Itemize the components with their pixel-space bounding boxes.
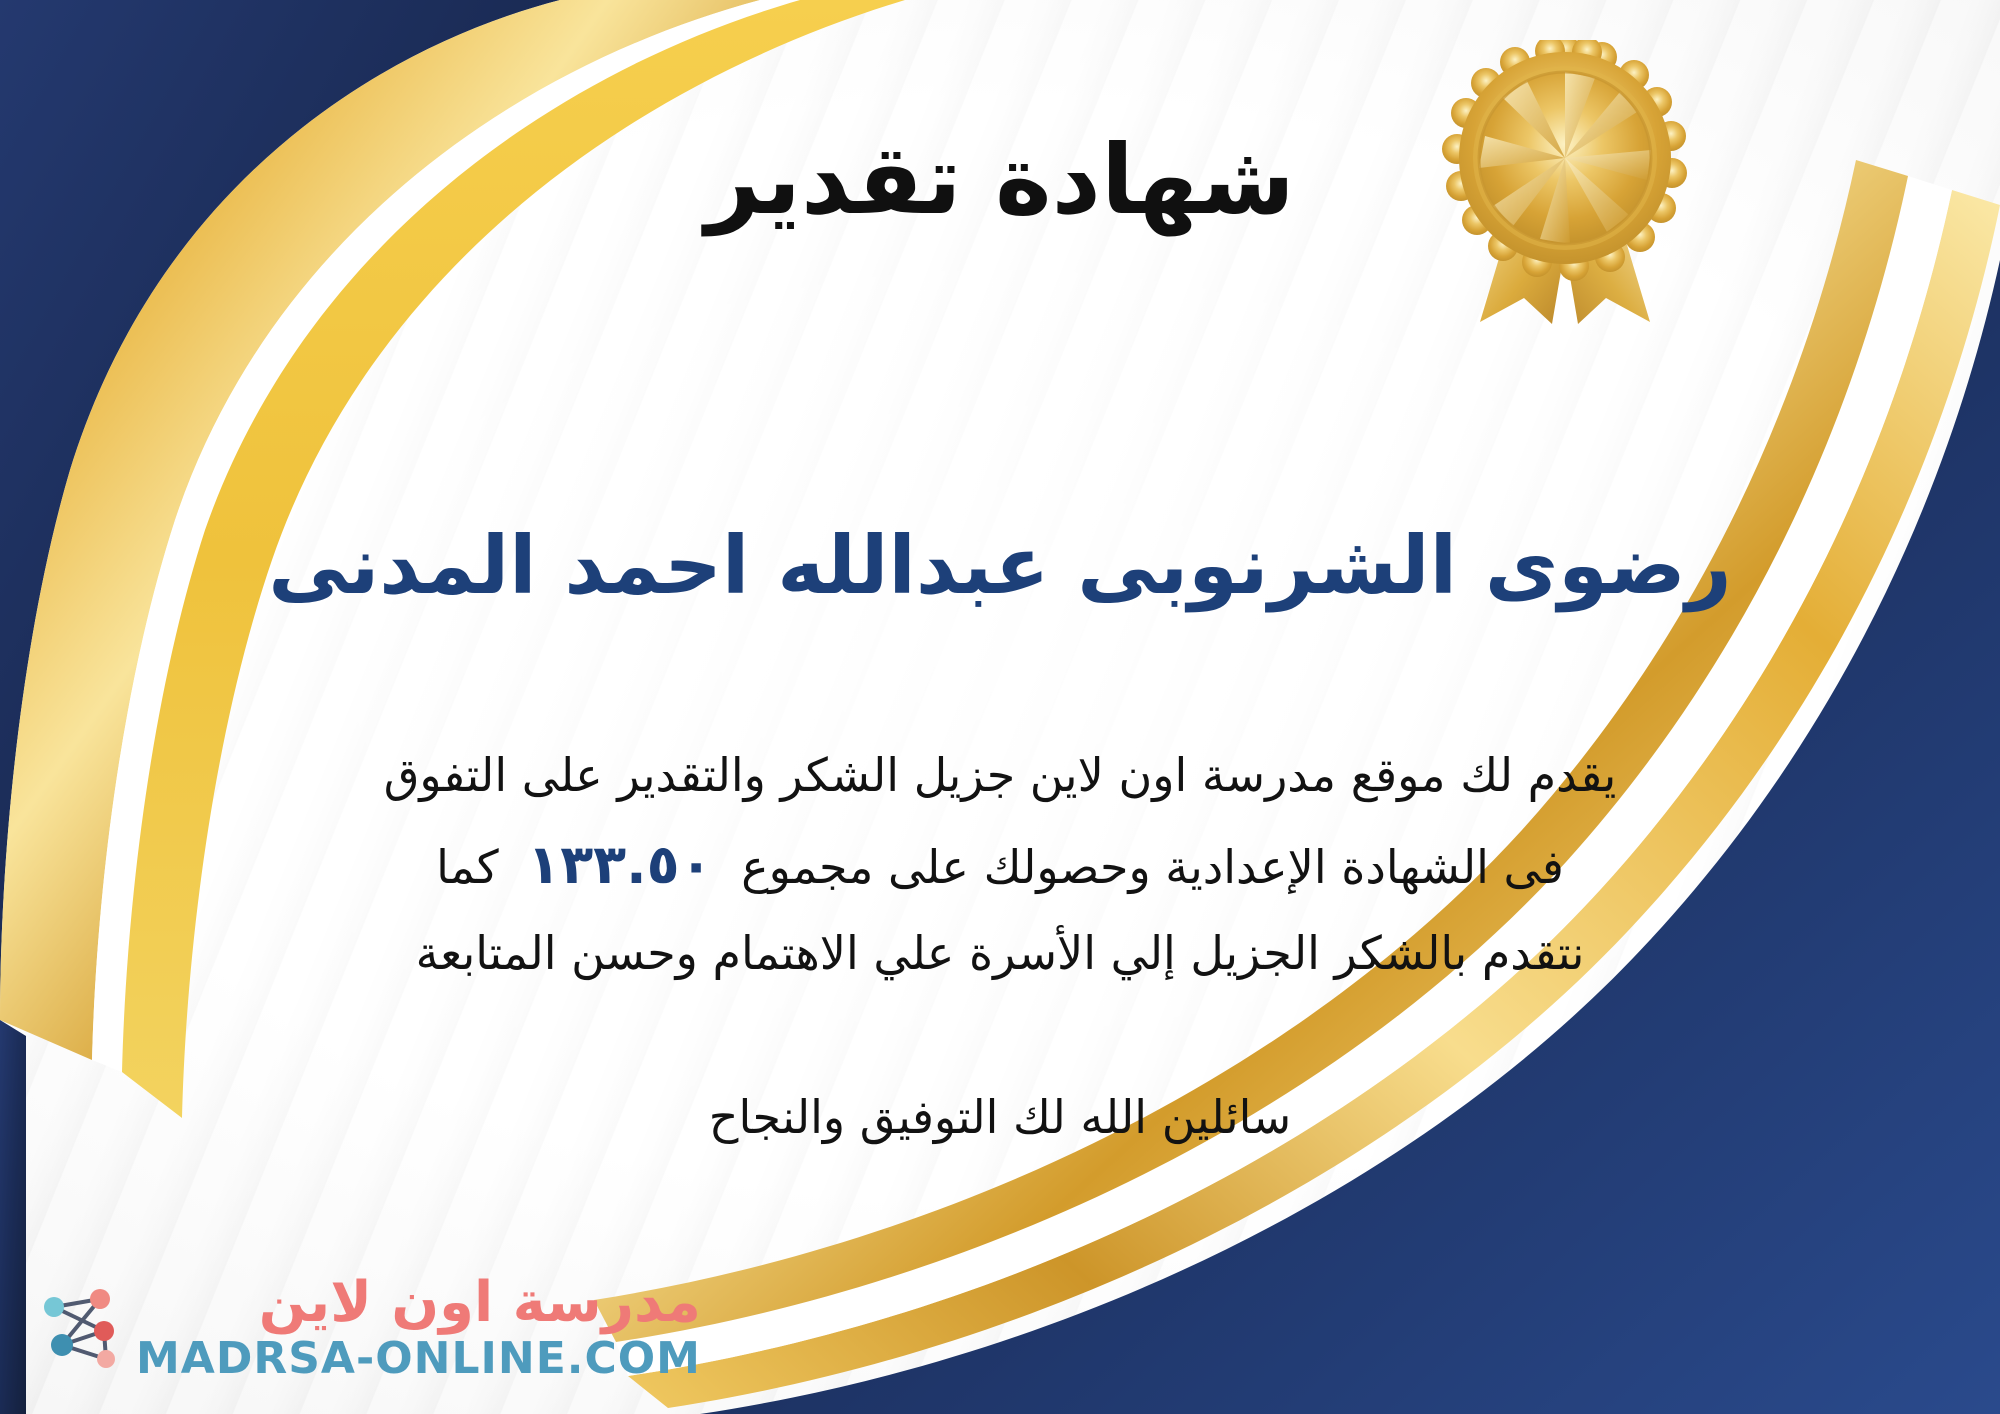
body-line-1: يقدم لك موقع مدرسة اون لاين جزيل الشكر و… [220,735,1780,817]
brand-url: MADRSA-ONLINE.COM [136,1333,701,1384]
body-line-2-suffix: كما [436,840,499,894]
grade-total: ١٣٣.٥٠ [513,833,726,896]
body-line-2-prefix: فى الشهادة الإعدادية وحصولك على مجموع [741,840,1564,894]
brand-logo: مدرسة اون لاين MADRSA-ONLINE.COM [34,1274,701,1384]
certificate-body: يقدم لك موقع مدرسة اون لاين جزيل الشكر و… [0,735,2000,995]
page-title: شهادة تقدير [0,128,2000,234]
closing-line: سائلين الله لك التوفيق والنجاح [0,1090,2000,1144]
network-nodes-icon [34,1283,126,1375]
recipient-name: رضوى الشرنوبى عبدالله احمد المدنى [0,520,2000,612]
brand-arabic-name: مدرسة اون لاين [259,1274,701,1333]
body-line-2: فى الشهادة الإعدادية وحصولك على مجموع ١٣… [220,817,1780,913]
body-line-3: نتقدم بالشكر الجزيل إلي الأسرة علي الاهت… [220,913,1780,995]
certificate-page: شهادة تقدير رضوى الشرنوبى عبدالله احمد ا… [0,0,2000,1414]
gold-award-medal-icon [1440,40,1690,330]
